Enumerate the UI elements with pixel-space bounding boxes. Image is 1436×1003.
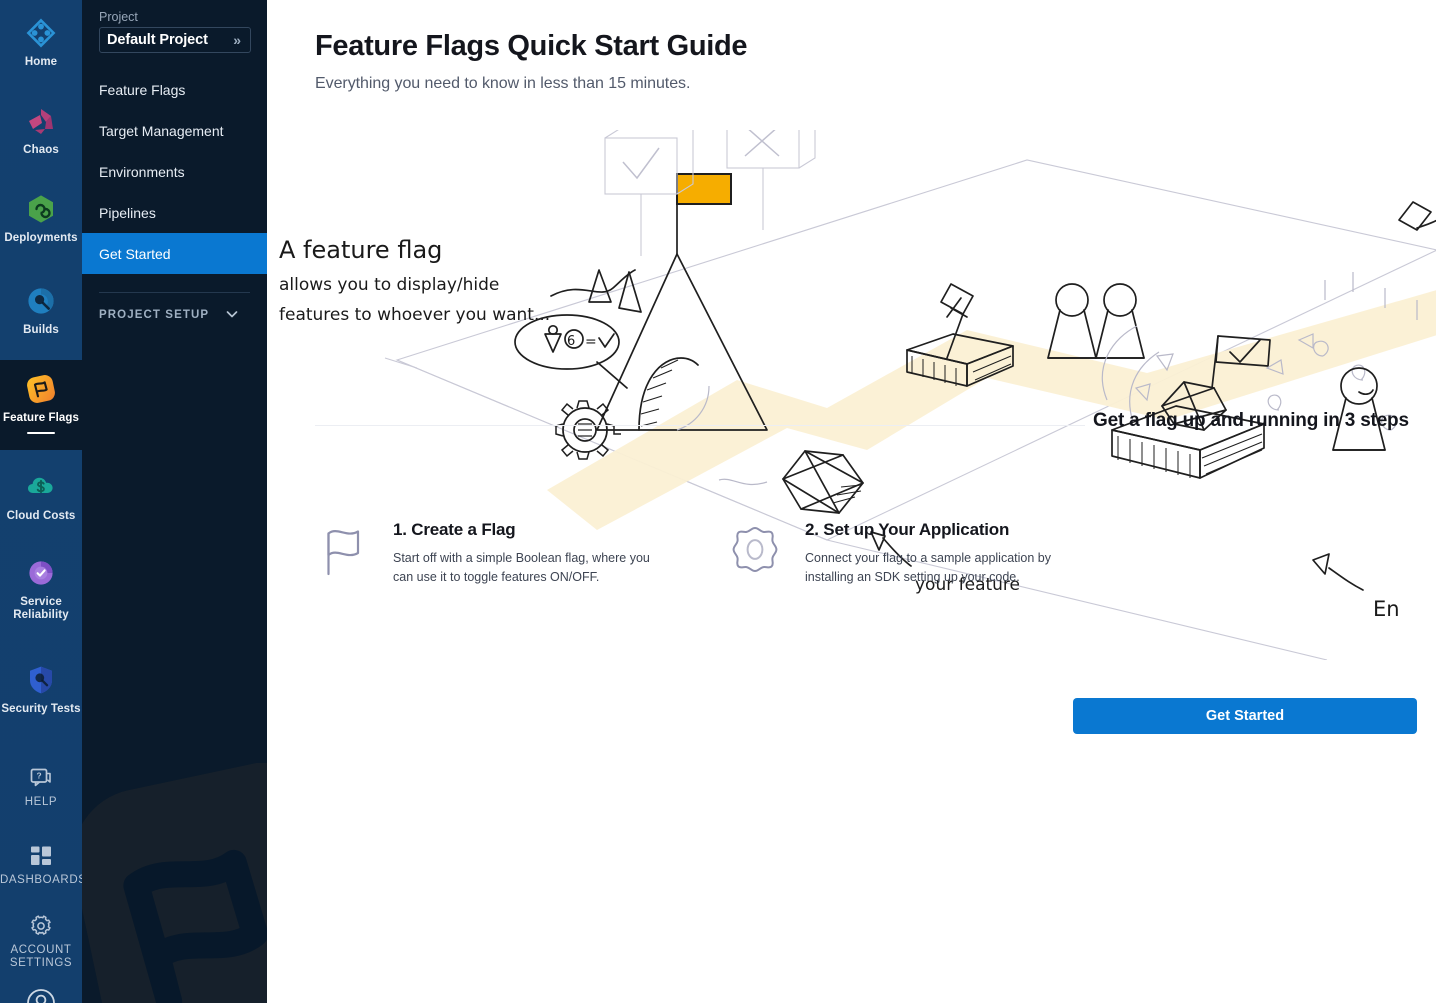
sidebar-item-label: Target Management (99, 123, 224, 139)
step-text: 2. Set up Your Application Connect your … (805, 520, 1067, 587)
step-create-a-flag: 1. Create a Flag Start off with a simple… (315, 520, 655, 587)
step-text: 1. Create a Flag Start off with a simple… (393, 520, 655, 587)
chevron-double-right-icon: » (233, 32, 242, 48)
sidebar-section-label: PROJECT SETUP (99, 309, 209, 321)
app-root: Home Chaos (0, 0, 1436, 1003)
deployments-infinity-icon (24, 192, 58, 226)
steps-heading: Get a flag up and running in 3 steps (1093, 410, 1409, 432)
help-icon: ? (29, 766, 53, 790)
gear-outline-icon (727, 524, 783, 580)
project-label: Project (82, 0, 267, 27)
project-selector[interactable]: Default Project » (99, 27, 251, 53)
step-title: 1. Create a Flag (393, 520, 655, 540)
section-divider (315, 425, 1085, 426)
builds-icon (24, 284, 58, 318)
main-content: Feature Flags Quick Start Guide Everythi… (267, 0, 1436, 1003)
page-subtitle: Everything you need to know in less than… (315, 75, 1436, 93)
svg-text:allows you to display/hide: allows you to display/hide (279, 275, 499, 295)
rail-item-security-tests[interactable]: Security Tests (0, 655, 82, 723)
sidebar-item-target-management[interactable]: Target Management (82, 110, 267, 151)
feature-flags-watermark-logo (82, 763, 267, 1003)
rail-item-deployments[interactable]: Deployments (0, 184, 82, 252)
sidebar-nav: Feature Flags Target Management Environm… (82, 69, 267, 274)
security-tests-shield-icon (24, 663, 58, 697)
page-header: Feature Flags Quick Start Guide Everythi… (267, 0, 1436, 93)
cloud-costs-icon (24, 470, 58, 504)
rail-item-label: Service Reliability (0, 596, 82, 622)
svg-text:A feature flag: A feature flag (279, 236, 442, 264)
service-reliability-icon (24, 556, 58, 590)
dashboards-grid-icon (29, 844, 53, 868)
user-avatar[interactable] (0, 988, 82, 1003)
rail-item-label: DASHBOARDS (0, 874, 82, 887)
active-rail-underline (27, 432, 55, 434)
rail-item-label: Home (0, 56, 82, 69)
rail-item-label: Builds (0, 324, 82, 337)
rail-item-label: HELP (0, 796, 82, 809)
page-title: Feature Flags Quick Start Guide (315, 30, 1436, 63)
svg-text:features to whoever you want..: features to whoever you want... (279, 305, 550, 325)
sidebar-item-label: Pipelines (99, 205, 156, 221)
rail-item-label: ACCOUNT SETTINGS (0, 944, 82, 970)
rail-item-label: Deployments (0, 232, 82, 245)
svg-text:6: 6 (567, 334, 575, 349)
chevron-down-icon (225, 307, 239, 324)
sidebar-content: Project Default Project » Feature Flags … (82, 0, 267, 337)
rail-item-label: Security Tests (0, 703, 82, 716)
step-description: Start off with a simple Boolean flag, wh… (393, 549, 655, 587)
rail-item-chaos[interactable]: Chaos (0, 96, 82, 164)
svg-text:?: ? (36, 771, 41, 781)
step-set-up-your-application: 2. Set up Your Application Connect your … (727, 520, 1067, 587)
step-title: 2. Set up Your Application (805, 520, 1067, 540)
project-selector-value: Default Project (107, 32, 208, 48)
sidebar-item-label: Feature Flags (99, 82, 185, 98)
avatar (26, 988, 56, 1003)
primary-nav-rail: Home Chaos (0, 0, 82, 1003)
sidebar-item-label: Get Started (99, 246, 171, 262)
rail-item-home[interactable]: Home (0, 8, 82, 76)
rail-item-cloud-costs[interactable]: Cloud Costs (0, 462, 82, 530)
feature-flags-icon (24, 372, 58, 406)
sidebar-item-feature-flags[interactable]: Feature Flags (82, 69, 267, 110)
rail-item-label: Feature Flags (0, 412, 82, 425)
project-sidebar: Project Default Project » Feature Flags … (82, 0, 267, 1003)
rail-items-container: Home Chaos (0, 0, 82, 1003)
rail-item-account-settings[interactable]: ACCOUNT SETTINGS (0, 908, 82, 978)
gear-icon (29, 914, 53, 938)
svg-text:=: = (585, 334, 597, 350)
get-started-button[interactable]: Get Started (1073, 698, 1417, 734)
rail-item-service-reliability[interactable]: Service Reliability (0, 548, 82, 630)
rail-item-help[interactable]: ? HELP (0, 760, 82, 816)
sidebar-item-get-started[interactable]: Get Started (82, 233, 267, 274)
sidebar-item-label: Environments (99, 164, 185, 180)
chaos-icon (24, 104, 58, 138)
flag-outline-icon (315, 524, 371, 580)
sidebar-item-environments[interactable]: Environments (82, 151, 267, 192)
rail-item-dashboards[interactable]: DASHBOARDS (0, 838, 82, 894)
home-diamond-icon (24, 16, 58, 50)
rail-item-label: Chaos (0, 144, 82, 157)
rail-item-builds[interactable]: Builds (0, 276, 82, 344)
sidebar-item-pipelines[interactable]: Pipelines (82, 192, 267, 233)
rail-item-label: Cloud Costs (0, 510, 82, 523)
svg-text:En: En (1373, 597, 1400, 621)
sidebar-section-project-setup[interactable]: PROJECT SETUP (82, 293, 267, 337)
rail-item-feature-flags[interactable]: Feature Flags (0, 360, 82, 450)
step-description: Connect your flag to a sample applicatio… (805, 549, 1067, 587)
